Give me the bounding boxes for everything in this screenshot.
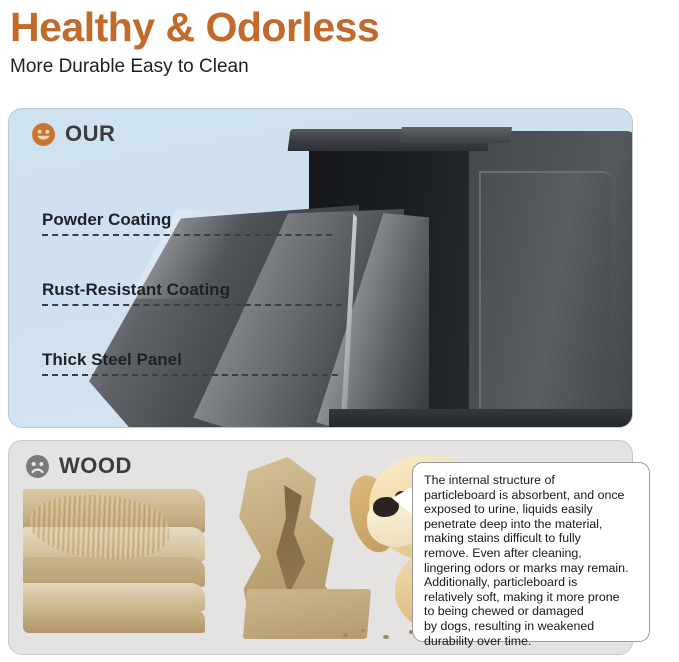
callout-leader-line [42,304,342,306]
panel-our: OUR Powder Coating Rust-Resistant Coatin… [8,108,633,428]
crate-inner-panel-shape [479,171,611,425]
callout-leader-line [42,374,338,376]
particleboard-stack [23,489,205,641]
badge-wood-label: WOOD [59,453,132,479]
callout-leader-line [42,234,332,236]
badge-our-label: OUR [65,121,115,147]
callout-thick-steel-panel: Thick Steel Panel [42,349,338,376]
crate-base-shape [329,409,633,428]
crate-top-rail-secondary-shape [400,127,512,143]
badge-wood: WOOD [25,453,132,479]
header: Healthy & Odorless More Durable Easy to … [10,2,670,81]
speech-bubble-text: The internal structure of particleboard … [424,473,639,648]
board-layer [23,607,205,633]
callout-label: Powder Coating [42,209,332,231]
badge-our: OUR [31,121,115,147]
callout-label: Thick Steel Panel [42,349,338,371]
callout-label: Rust-Resistant Coating [42,279,342,301]
smiley-face-icon [31,122,56,147]
sad-face-icon [25,454,50,479]
steel-panel-artwork [9,109,632,427]
page-subtitle: More Durable Easy to Clean [10,53,670,81]
page-title: Healthy & Odorless [10,2,670,52]
callout-powder-coating: Powder Coating [42,209,332,236]
speech-bubble: The internal structure of particleboard … [412,462,650,642]
callout-rust-resistant-coating: Rust-Resistant Coating [42,279,342,306]
